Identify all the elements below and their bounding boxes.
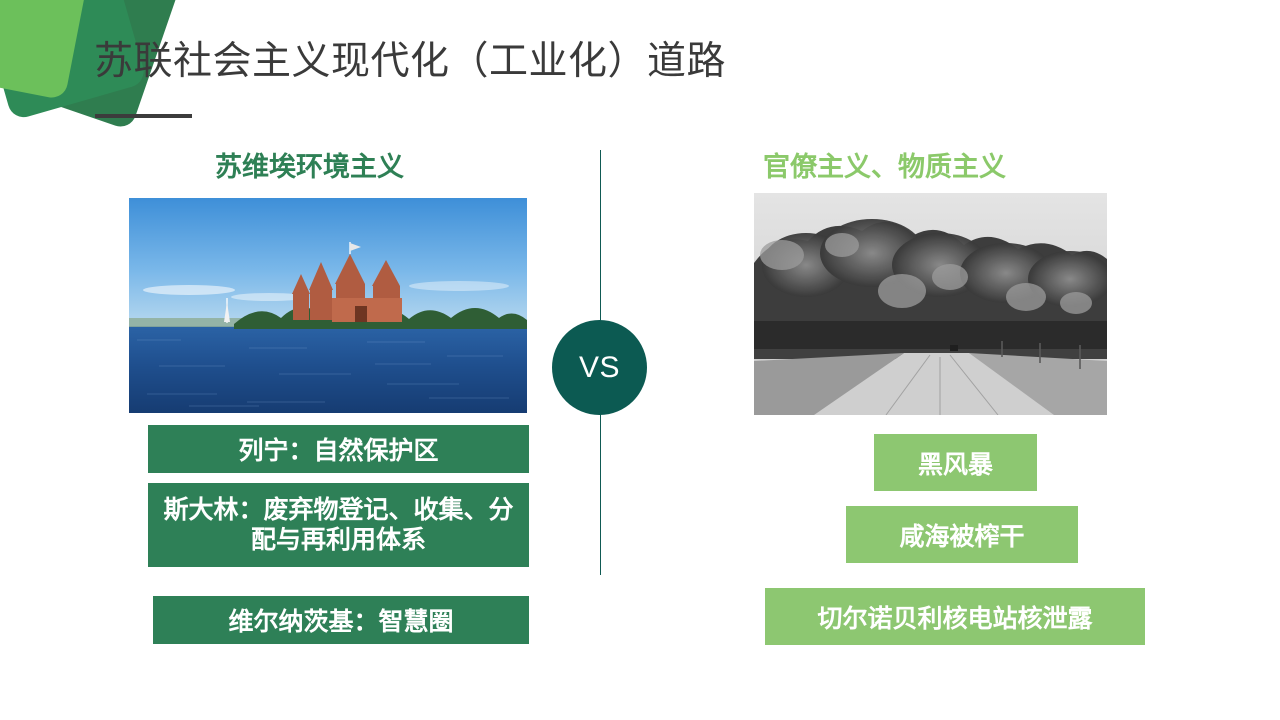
list-item: 切尔诺贝利核电站核泄露 bbox=[765, 588, 1145, 645]
vs-badge: VS bbox=[552, 320, 647, 415]
list-item: 咸海被榨干 bbox=[846, 506, 1078, 563]
page-title: 苏联社会主义现代化（工业化）道路 bbox=[94, 38, 726, 86]
castle-on-lake-photo bbox=[129, 198, 527, 413]
dust-storm-photo bbox=[754, 193, 1107, 415]
list-item: 维尔纳茨基：智慧圈 bbox=[153, 596, 529, 644]
list-item: 黑风暴 bbox=[874, 434, 1037, 491]
left-column-heading: 苏维埃环境主义 bbox=[215, 145, 404, 184]
list-item: 斯大林：废弃物登记、收集、分配与再利用体系 bbox=[148, 483, 529, 567]
title-underline-rule bbox=[95, 114, 192, 118]
list-item: 列宁：自然保护区 bbox=[148, 425, 529, 473]
right-column-heading: 官僚主义、物质主义 bbox=[763, 145, 1006, 184]
